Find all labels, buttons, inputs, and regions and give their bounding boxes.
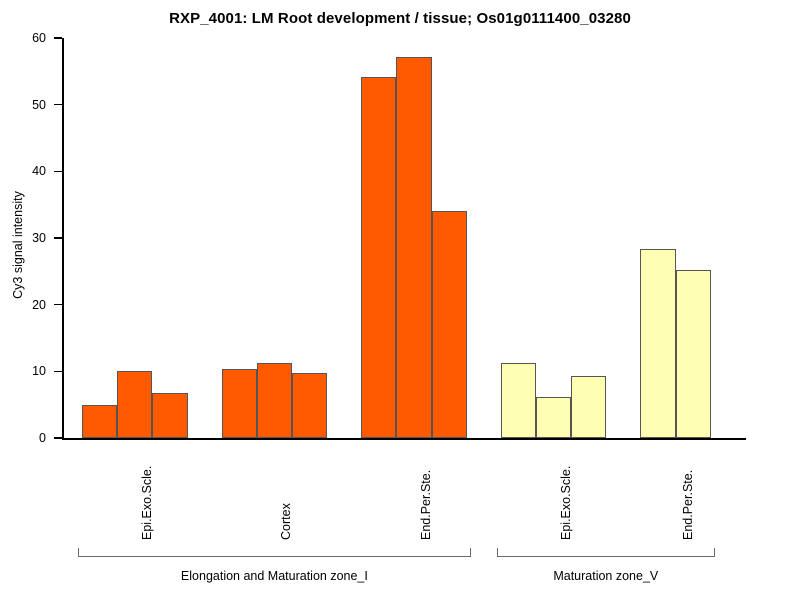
bar — [640, 249, 675, 438]
bar — [432, 211, 467, 438]
x-tick-label: End.Per.Ste. — [682, 470, 694, 540]
x-tick-label: End.Per.Ste. — [420, 470, 432, 540]
y-tick-mark — [54, 37, 62, 39]
y-tick-label: 0 — [0, 432, 46, 444]
zone-label: Elongation and Maturation zone_I — [78, 569, 471, 583]
bar — [501, 363, 536, 438]
x-axis-line — [62, 438, 746, 440]
chart-title: RXP_4001: LM Root development / tissue; … — [0, 10, 800, 27]
bar — [257, 363, 292, 438]
x-tick-label: Epi.Exo.Scle. — [560, 466, 572, 540]
y-tick-mark — [54, 371, 62, 373]
x-tick-label: Cortex — [280, 503, 292, 540]
y-tick-label: 40 — [0, 165, 46, 177]
x-tick-label: Epi.Exo.Scle. — [141, 466, 153, 540]
y-tick-mark — [54, 171, 62, 173]
bar — [676, 270, 711, 438]
bar — [396, 57, 431, 438]
y-tick-mark — [54, 304, 62, 306]
bar — [152, 393, 187, 438]
bar — [82, 405, 117, 438]
y-axis-line — [62, 38, 64, 439]
bar — [536, 397, 571, 438]
y-tick-label: 30 — [0, 232, 46, 244]
bar-chart-figure: RXP_4001: LM Root development / tissue; … — [0, 0, 800, 600]
zone-bracket — [78, 548, 471, 557]
y-tick-mark — [54, 237, 62, 239]
y-tick-label: 20 — [0, 299, 46, 311]
bar — [292, 373, 327, 438]
y-tick-mark — [54, 437, 62, 439]
y-tick-label: 60 — [0, 32, 46, 44]
y-tick-label: 50 — [0, 99, 46, 111]
zone-bracket — [497, 548, 715, 557]
zone-label: Maturation zone_V — [497, 569, 715, 583]
bar — [361, 77, 396, 438]
y-tick-label: 10 — [0, 365, 46, 377]
bar — [117, 371, 152, 438]
bar — [222, 369, 257, 438]
y-tick-mark — [54, 104, 62, 106]
bar — [571, 376, 606, 438]
